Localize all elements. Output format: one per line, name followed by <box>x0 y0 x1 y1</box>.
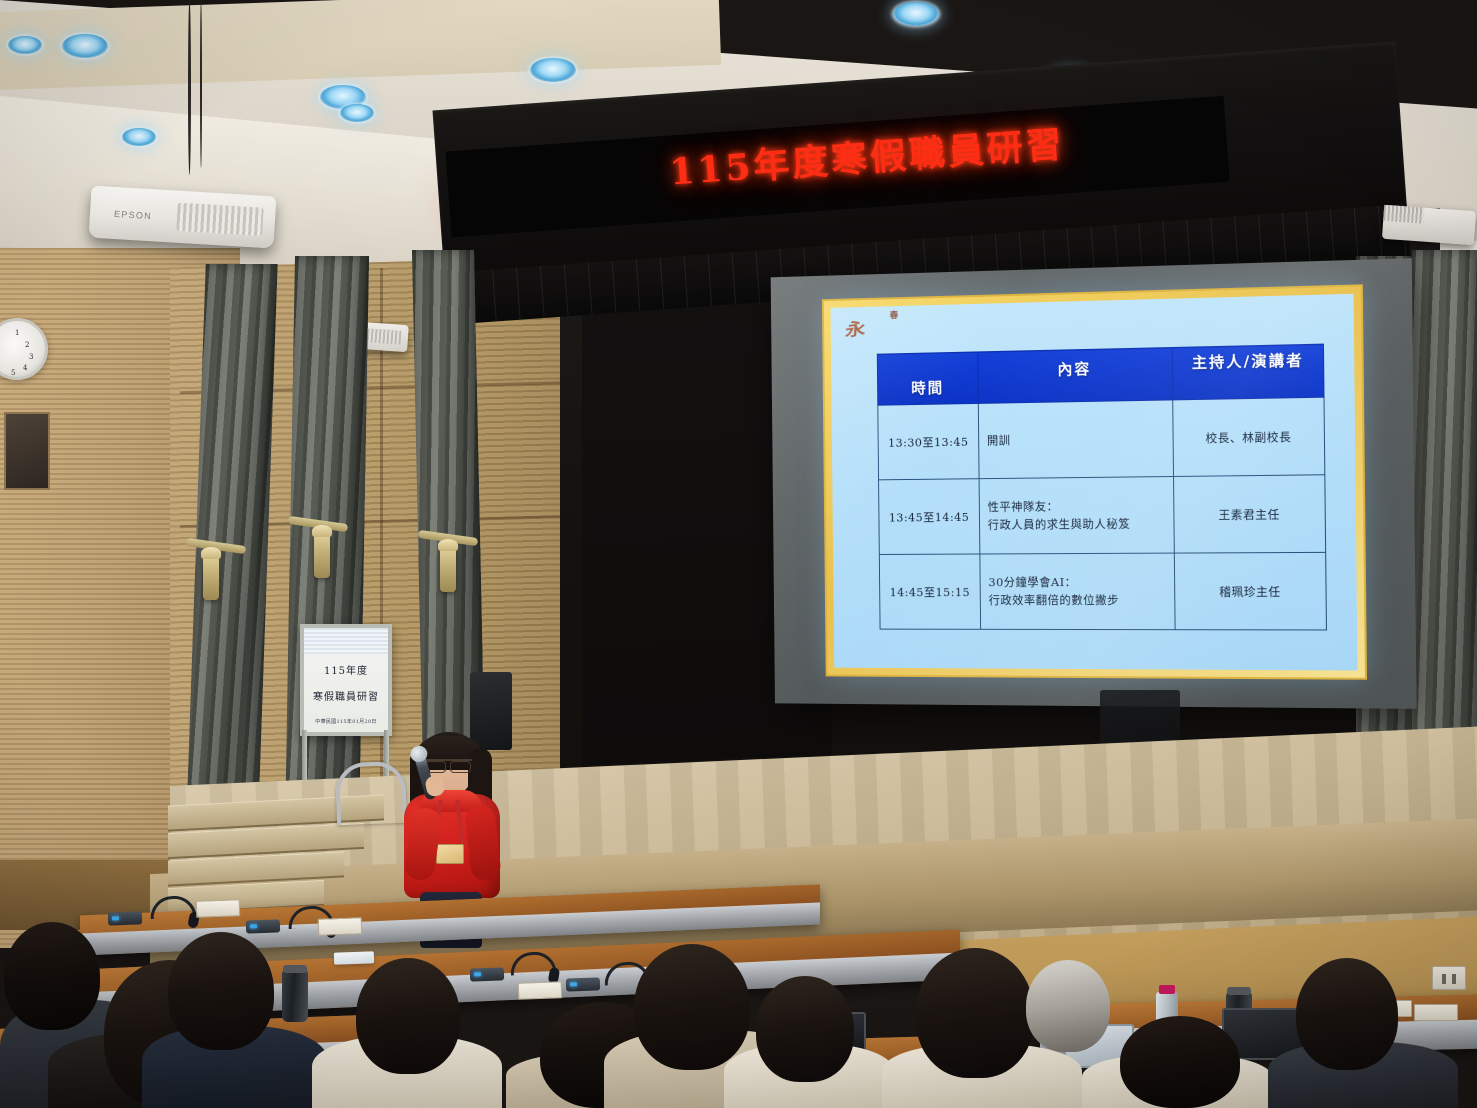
table-row: 13:30至13:45 開訓 校長、林副校長 <box>878 397 1325 480</box>
projector-vent <box>363 328 402 345</box>
desk-name-placard <box>196 899 241 918</box>
projector-vent <box>1383 205 1424 224</box>
clock-numeral: 4 <box>23 364 27 372</box>
column-header-time: 時間 <box>877 352 978 405</box>
desk-paper <box>334 951 374 964</box>
cell-content-line1: 性平神隊友： <box>988 497 1166 516</box>
emblem-mark: 永 <box>845 321 864 340</box>
sign-line-date: 中華民國115年01月20日 <box>304 718 388 725</box>
column-header-content: 內容 <box>978 348 1173 404</box>
mic-led-indicator <box>570 982 577 986</box>
table-row: 14:45至15:15 30分鐘學會AI： 行政效率翻倍的數位撇步 稽珮珍主任 <box>879 552 1326 630</box>
wall-vent-panel <box>4 412 50 490</box>
wall-power-outlet[interactable] <box>1432 966 1466 990</box>
curtain-tassel <box>203 556 219 600</box>
clock-numeral: 2 <box>25 341 29 349</box>
audience-head <box>1026 960 1110 1052</box>
agenda-table: 時間 內容 主持人/演講者 13:30至13:45 開訓 校長、林副校長 <box>877 344 1327 631</box>
cell-time: 14:45至15:15 <box>879 554 980 629</box>
speaker-glasses <box>424 759 472 769</box>
mic-led-indicator <box>250 924 257 928</box>
easel-sign-board: 115年度 寒假職員研習 中華民國115年01月20日 <box>300 624 392 736</box>
sign-line-title: 寒假職員研習 <box>304 688 388 703</box>
desk-microphone-base[interactable] <box>108 911 142 925</box>
ceiling-downlight <box>340 104 374 122</box>
desk-microphone-base[interactable] <box>470 967 504 981</box>
table-row: 13:45至14:45 性平神隊友： 行政人員的求生與助人秘笈 王素君主任 <box>879 475 1326 555</box>
mic-led-indicator <box>112 916 119 920</box>
ceiling-cable <box>200 0 202 168</box>
desk-microphone-base[interactable] <box>566 977 600 991</box>
cell-content-line2: 行政人員的求生與助人秘笈 <box>988 515 1166 534</box>
audience-head <box>4 922 100 1030</box>
clock-numeral: 3 <box>29 353 33 361</box>
cell-host: 校長、林副校長 <box>1173 397 1325 476</box>
sign-stripe-pattern <box>304 628 388 654</box>
cell-host: 王素君主任 <box>1174 475 1326 553</box>
desk-microphone-base[interactable] <box>246 919 280 933</box>
desk-name-placard <box>1414 1004 1458 1021</box>
cell-content-line1: 開訓 <box>987 429 1165 449</box>
desk-tumbler <box>282 970 308 1022</box>
ceiling-cable <box>188 0 191 175</box>
column-header-host: 主持人/演講者 <box>1172 344 1324 400</box>
audience-head <box>1120 1016 1240 1108</box>
audience-head <box>756 976 854 1082</box>
projection-screen: 永 春 時間 內容 主持人/演講者 13:30至13:45 開訓 <box>771 258 1417 709</box>
cell-content: 開訓 <box>978 400 1173 479</box>
cell-content: 性平神隊友： 行政人員的求生與助人秘笈 <box>979 476 1174 554</box>
sign-line-year: 115年度 <box>304 662 388 677</box>
curtain-tassel <box>440 548 456 592</box>
audience-head <box>356 958 460 1074</box>
bottle-cap <box>1159 985 1175 994</box>
cell-content: 30分鐘學會AI： 行政效率翻倍的數位撇步 <box>980 553 1175 630</box>
audience-head <box>634 944 750 1070</box>
ceiling-downlight <box>893 2 939 26</box>
audience-head <box>916 948 1034 1078</box>
audience-head <box>168 932 274 1050</box>
tumbler-lid <box>1227 987 1251 995</box>
table-header-row: 時間 內容 主持人/演講者 <box>877 344 1324 405</box>
desk-name-placard <box>318 917 363 936</box>
cell-time: 13:30至13:45 <box>878 403 979 479</box>
desk-name-placard <box>518 981 563 1000</box>
audience-head <box>1296 958 1398 1070</box>
ceiling-downlight <box>62 34 108 58</box>
cell-content-line2: 行政效率翻倍的數位撇步 <box>989 591 1167 609</box>
ceiling-downlight <box>530 58 576 82</box>
projector-vent <box>176 203 264 236</box>
emblem-sub: 春 <box>890 312 899 321</box>
cell-time: 13:45至14:45 <box>879 479 980 555</box>
projector-brand-label: EPSON <box>114 209 153 221</box>
presentation-slide: 永 春 時間 內容 主持人/演講者 13:30至13:45 開訓 <box>824 286 1365 677</box>
ceiling-downlight <box>122 128 156 146</box>
cell-content-line1: 30分鐘學會AI： <box>988 573 1166 591</box>
mic-led-indicator <box>474 972 481 976</box>
cell-host: 稽珮珍主任 <box>1174 552 1326 630</box>
tumbler-lid <box>283 965 307 973</box>
clock-numeral: 5 <box>11 369 15 377</box>
clock-numeral: 1 <box>15 329 19 337</box>
curtain-tassel <box>314 534 330 578</box>
projector-ceiling-left: EPSON <box>89 186 277 249</box>
auditorium-scene: 115年度寒假職員研習 EPSON 永 春 時間 <box>0 0 1477 1108</box>
ceiling-downlight <box>8 36 42 54</box>
projector-ceiling-right <box>1382 205 1476 245</box>
speaker-name-badge <box>436 844 464 864</box>
